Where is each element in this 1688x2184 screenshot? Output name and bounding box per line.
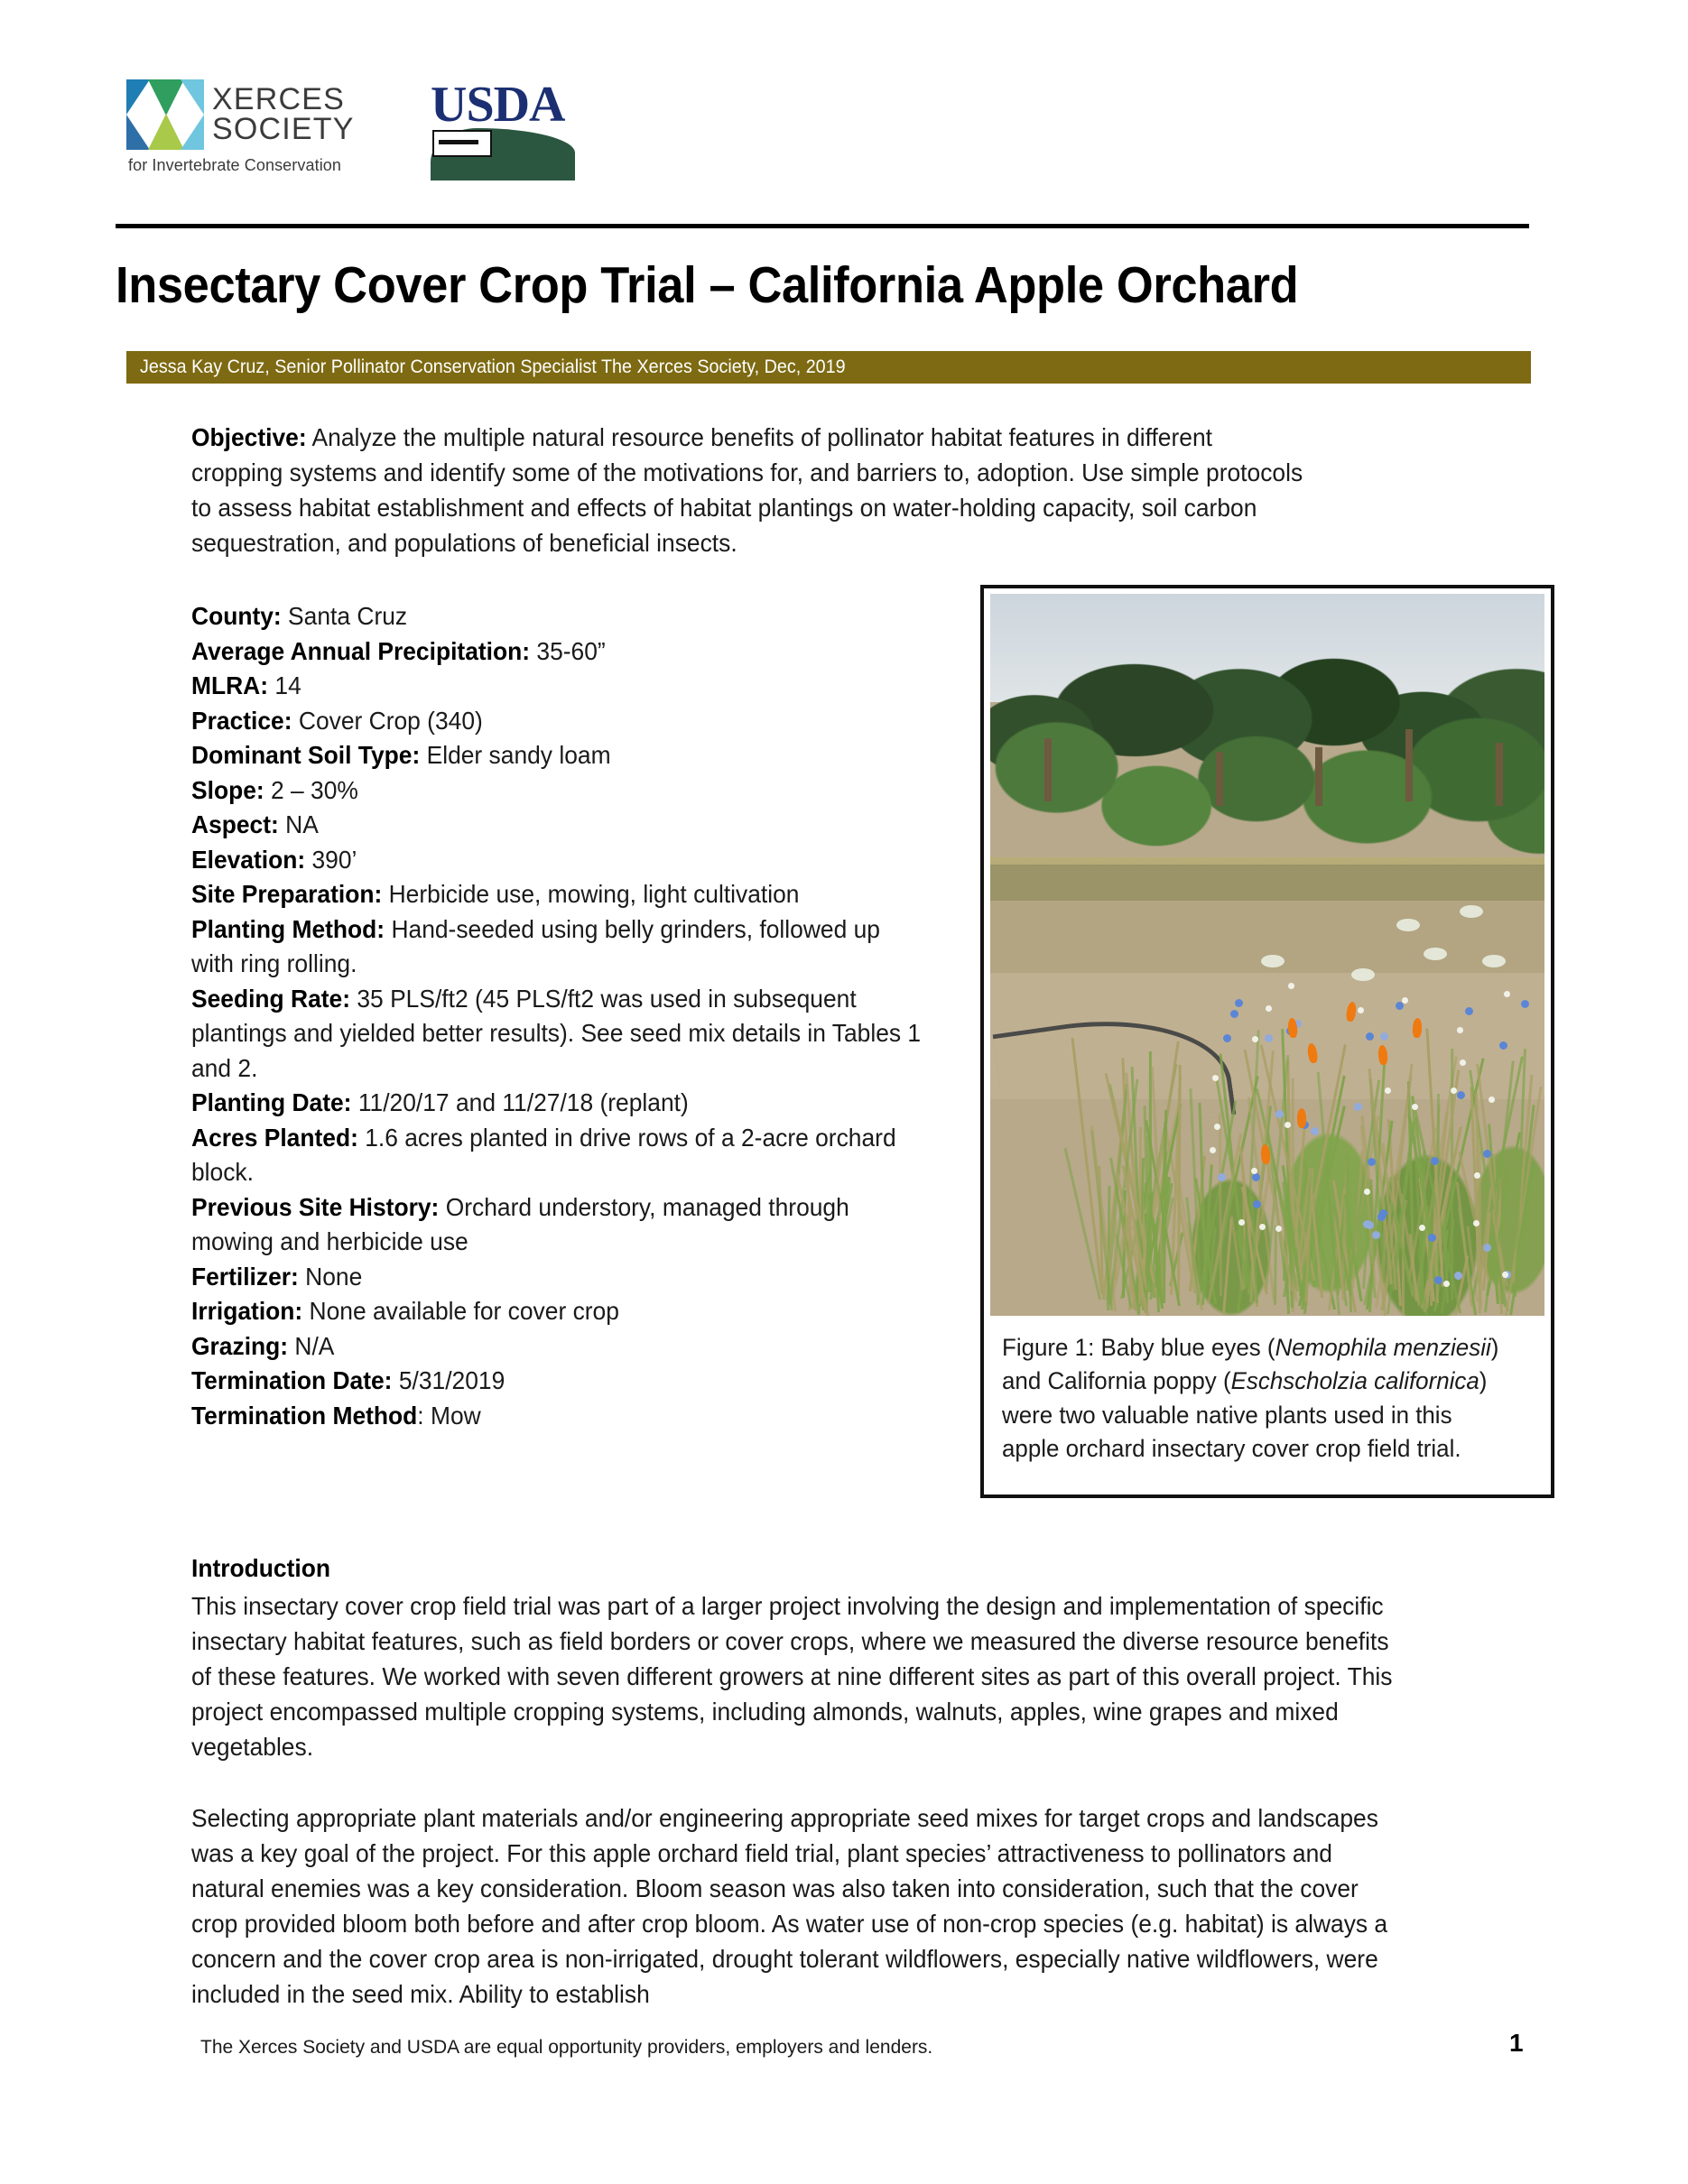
photo-white-flower	[1288, 983, 1294, 989]
detail-value: Herbicide use, mowing, light cultivation	[382, 880, 799, 908]
photo-tree-trunk	[1216, 752, 1223, 806]
photo-white-flower	[1210, 1147, 1216, 1153]
photo-baby-blue-eyes-flower	[1521, 1000, 1529, 1008]
photo-tree-trunk	[1315, 747, 1322, 806]
figure-caption: Figure 1: Baby blue eyes (Nemophila menz…	[1002, 1331, 1511, 1466]
detail-row: County: Santa Cruz	[191, 599, 928, 634]
detail-row: Elevation: 390’	[191, 843, 928, 878]
objective-text: Analyze the multiple natural resource be…	[191, 423, 1303, 557]
introduction-paragraph-1: This insectary cover crop field trial wa…	[191, 1588, 1405, 1764]
photo-white-flower	[1252, 1036, 1258, 1042]
figure-photo	[990, 594, 1544, 1316]
footer-disclaimer: The Xerces Society and USDA are equal op…	[200, 2037, 932, 2059]
detail-row: Seeding Rate: 35 PLS/ft2 (45 PLS/ft2 was…	[191, 982, 928, 1087]
photo-white-flower	[1364, 1189, 1370, 1195]
xerces-wordmark: XERCES SOCIETY	[212, 85, 355, 145]
detail-label: Termination Method	[191, 1402, 417, 1430]
detail-value: 390’	[305, 846, 357, 874]
photo-umbel-flower-cluster	[1261, 955, 1285, 967]
detail-value: N/A	[288, 1332, 334, 1360]
photo-umbel-flower-cluster	[1351, 968, 1375, 981]
photo-white-flower	[1212, 1075, 1219, 1081]
detail-row: Grazing: N/A	[191, 1329, 928, 1365]
detail-label: Slope:	[191, 776, 264, 804]
photo-umbel-flower-cluster	[1460, 905, 1483, 918]
document-page: XERCES SOCIETY for Invertebrate Conserva…	[0, 0, 1688, 2184]
photo-tree-trunk	[1496, 743, 1503, 806]
photo-baby-blue-eyes-flower	[1434, 1276, 1442, 1284]
detail-label: MLRA:	[191, 671, 268, 699]
detail-row: Planting Method: Hand-seeded using belly…	[191, 912, 928, 982]
detail-value: 14	[268, 671, 301, 699]
detail-row: Irrigation: None available for cover cro…	[191, 1294, 928, 1329]
photo-white-flower	[1266, 1005, 1272, 1012]
photo-umbel-flower-cluster	[1424, 948, 1447, 960]
photo-baby-blue-eyes-flower	[1454, 1272, 1462, 1280]
usda-logo: USDA	[431, 79, 575, 180]
detail-row: Dominant Soil Type: Elder sandy loam	[191, 738, 928, 773]
figure-caption-prefix: Figure 1: Baby blue eyes (	[1002, 1334, 1275, 1361]
detail-label: Site Preparation:	[191, 880, 382, 908]
detail-row: Aspect: NA	[191, 808, 928, 843]
detail-row: MLRA: 14	[191, 669, 928, 704]
photo-white-flower	[1385, 1087, 1391, 1094]
detail-row: Fertilizer: None	[191, 1260, 928, 1295]
page-title: Insectary Cover Crop Trial – California …	[116, 255, 1444, 315]
detail-row: Termination Method: Mow	[191, 1399, 928, 1434]
detail-row: Previous Site History: Orchard understor…	[191, 1190, 928, 1260]
introduction-paragraph-2: Selecting appropriate plant materials an…	[191, 1800, 1405, 2012]
photo-baby-blue-eyes-flower	[1431, 1157, 1439, 1165]
detail-label: Fertilizer:	[191, 1263, 299, 1291]
detail-label: County:	[191, 602, 282, 630]
photo-white-flower	[1251, 1168, 1257, 1174]
xerces-butterfly-icon	[126, 79, 204, 150]
detail-label: Aspect:	[191, 810, 279, 838]
header-divider	[116, 224, 1529, 228]
usda-wordmark: USDA	[431, 79, 575, 130]
figure-species-eschscholzia: Eschscholzia californica	[1231, 1367, 1479, 1394]
detail-row: Acres Planted: 1.6 acres planted in driv…	[191, 1121, 928, 1190]
photo-tree-trunk	[1405, 729, 1413, 801]
detail-value: 2 – 30%	[264, 776, 358, 804]
detail-label: Dominant Soil Type:	[191, 741, 420, 769]
detail-label: Elevation:	[191, 846, 305, 874]
photo-white-flower	[1285, 1122, 1291, 1128]
detail-label: Planting Date:	[191, 1088, 351, 1116]
photo-baby-blue-eyes-flower	[1372, 1231, 1380, 1239]
header-logos: XERCES SOCIETY for Invertebrate Conserva…	[126, 79, 1562, 197]
photo-baby-blue-eyes-flower	[1483, 1244, 1491, 1252]
photo-white-flower	[1214, 1124, 1220, 1130]
detail-value: NA	[279, 810, 319, 838]
photo-white-flower	[1474, 1172, 1480, 1179]
photo-california-poppy	[1297, 1108, 1306, 1128]
page-number: 1	[1509, 2029, 1524, 2058]
detail-value: None	[299, 1263, 362, 1291]
detail-row: Average Annual Precipitation: 35-60”	[191, 634, 928, 670]
byline-text: Jessa Kay Cruz, Senior Pollinator Conser…	[126, 356, 846, 378]
photo-white-flower	[1460, 1060, 1466, 1066]
detail-value: 11/20/17 and 11/27/18 (replant)	[351, 1088, 688, 1116]
detail-row: Slope: 2 – 30%	[191, 773, 928, 809]
xerces-wordmark-line1: XERCES	[212, 85, 355, 115]
detail-label: Termination Date:	[191, 1366, 392, 1394]
detail-label: Acres Planted:	[191, 1124, 358, 1152]
photo-white-flower	[1259, 1224, 1266, 1230]
objective-paragraph: Objective: Analyze the multiple natural …	[191, 420, 1309, 560]
xerces-society-logo: XERCES SOCIETY for Invertebrate Conserva…	[126, 79, 375, 175]
detail-label: Average Annual Precipitation:	[191, 637, 530, 665]
objective-label: Objective:	[191, 423, 307, 451]
photo-white-flower	[1451, 1087, 1457, 1094]
photo-baby-blue-eyes-flower	[1230, 1010, 1238, 1018]
detail-label: Irrigation:	[191, 1297, 302, 1325]
detail-value: : Mow	[417, 1402, 480, 1430]
detail-label: Grazing:	[191, 1332, 288, 1360]
photo-grass-blade	[1274, 1226, 1277, 1305]
photo-umbel-flower-cluster	[1482, 955, 1506, 967]
photo-umbel-flower-cluster	[1396, 919, 1420, 931]
detail-label: Previous Site History:	[191, 1193, 439, 1221]
xerces-logo-row: XERCES SOCIETY	[126, 79, 375, 150]
detail-row: Planting Date: 11/20/17 and 11/27/18 (re…	[191, 1086, 928, 1121]
detail-value: Santa Cruz	[282, 602, 407, 630]
detail-label: Practice:	[191, 707, 292, 735]
detail-label: Seeding Rate:	[191, 985, 350, 1013]
detail-value: Elder sandy loam	[420, 741, 610, 769]
photo-baby-blue-eyes-flower	[1275, 1110, 1284, 1118]
photo-baby-blue-eyes-flower	[1483, 1150, 1491, 1158]
xerces-wordmark-line2: SOCIETY	[212, 115, 355, 144]
detail-value: None available for cover crop	[302, 1297, 619, 1325]
detail-row: Practice: Cover Crop (340)	[191, 704, 928, 739]
introduction-heading: Introduction	[191, 1554, 330, 1583]
detail-row: Site Preparation: Herbicide use, mowing,…	[191, 877, 928, 912]
detail-label: Planting Method:	[191, 915, 385, 943]
byline-bar: Jessa Kay Cruz, Senior Pollinator Conser…	[126, 351, 1531, 384]
photo-baby-blue-eyes-flower	[1457, 1091, 1465, 1099]
usda-furrow-icon	[432, 130, 492, 157]
detail-value: 5/31/2019	[392, 1366, 505, 1394]
xerces-tagline: for Invertebrate Conservation	[128, 156, 375, 175]
photo-baby-blue-eyes-flower	[1380, 1032, 1388, 1041]
figure-species-nemophila: Nemophila menziesii	[1275, 1334, 1491, 1361]
detail-value: 35-60”	[530, 637, 606, 665]
site-details-list: County: Santa CruzAverage Annual Precipi…	[191, 599, 928, 1433]
photo-white-flower	[1489, 1097, 1495, 1103]
detail-value: Cover Crop (340)	[292, 707, 483, 735]
photo-white-flower	[1443, 1281, 1450, 1287]
photo-tree-trunk	[1044, 738, 1052, 801]
detail-row: Termination Date: 5/31/2019	[191, 1364, 928, 1399]
